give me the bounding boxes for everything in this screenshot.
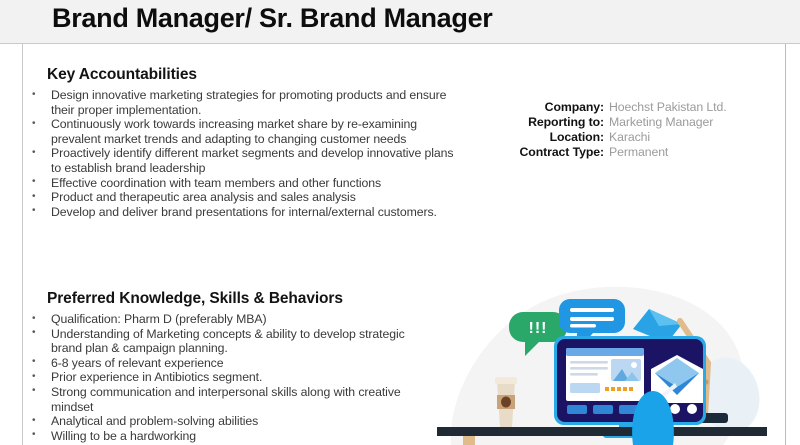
left-border-rule — [22, 44, 23, 445]
list-item: Design innovative marketing strategies f… — [30, 88, 460, 117]
meta-label: Reporting to: — [500, 115, 604, 129]
meta-label: Company: — [500, 100, 604, 114]
meta-label: Contract Type: — [500, 145, 604, 159]
list-item: Product and therapeutic area analysis an… — [30, 190, 460, 205]
svg-text:!!!: !!! — [529, 320, 548, 337]
monitor-icon — [554, 336, 706, 438]
header-band: Brand Manager/ Sr. Brand Manager — [0, 0, 800, 44]
desk-workspace-illustration: !!! — [437, 277, 785, 445]
list-item: Prior experience in Antibiotics segment. — [30, 370, 430, 385]
list-item: Analytical and problem-solving abilities — [30, 414, 430, 429]
list-item: Develop and deliver brand presentations … — [30, 205, 460, 220]
meta-row-location: Location: Karachi — [500, 130, 762, 144]
list-item: Understanding of Marketing concepts & ab… — [30, 327, 430, 356]
meta-row-reporting-to: Reporting to: Marketing Manager — [500, 115, 762, 129]
meta-row-company: Company: Hoechst Pakistan Ltd. — [500, 100, 762, 114]
list-item: Strong communication and interpersonal s… — [30, 385, 430, 414]
meta-value: Hoechst Pakistan Ltd. — [609, 100, 727, 114]
list-item: Proactively identify different market se… — [30, 146, 460, 175]
meta-value: Permanent — [609, 145, 668, 159]
meta-label: Location: — [500, 130, 604, 144]
list-item: Continuously work towards increasing mar… — [30, 117, 460, 146]
preferred-knowledge-heading: Preferred Knowledge, Skills & Behaviors — [47, 290, 343, 308]
right-border-rule — [785, 44, 786, 445]
key-accountabilities-list: Design innovative marketing strategies f… — [30, 88, 460, 219]
meta-value: Karachi — [609, 130, 650, 144]
left-gutter — [0, 44, 22, 445]
preferred-knowledge-list: Qualification: Pharm D (preferably MBA) … — [30, 312, 430, 443]
desk-surface — [437, 427, 767, 436]
page-title: Brand Manager/ Sr. Brand Manager — [52, 3, 493, 34]
meta-row-contract-type: Contract Type: Permanent — [500, 145, 762, 159]
job-meta-block: Company: Hoechst Pakistan Ltd. Reporting… — [500, 100, 762, 160]
list-item: 6-8 years of relevant experience — [30, 356, 430, 371]
list-item: Willing to be a hardworking — [30, 429, 430, 444]
key-accountabilities-heading: Key Accountabilities — [47, 66, 197, 84]
meta-value: Marketing Manager — [609, 115, 713, 129]
list-item: Effective coordination with team members… — [30, 176, 460, 191]
list-item: Qualification: Pharm D (preferably MBA) — [30, 312, 430, 327]
